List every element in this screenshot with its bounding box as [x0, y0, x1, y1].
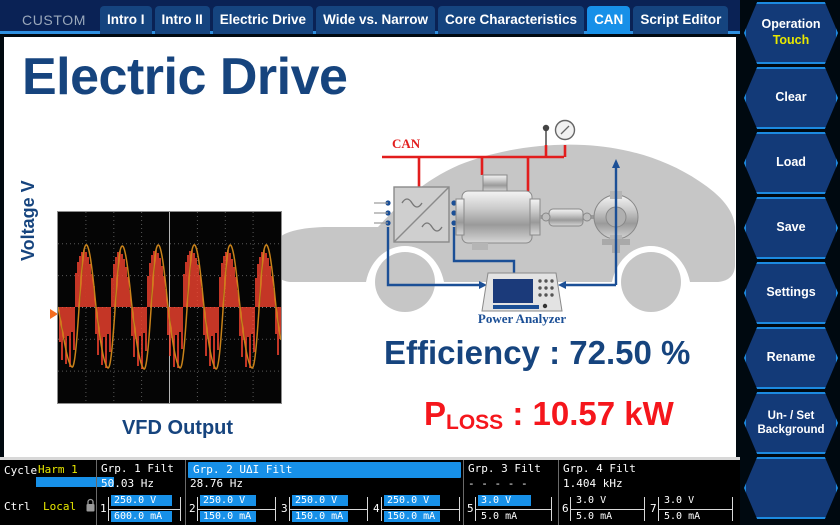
tab-intro-ii[interactable]: Intro II: [155, 6, 210, 34]
channel-7-number: 7: [650, 502, 657, 515]
group-4-header: Grp. 4 Filt: [563, 462, 636, 475]
channel-4[interactable]: 4 250.0 V 150.0 mA: [373, 494, 465, 523]
lock-icon[interactable]: [85, 498, 96, 513]
status-group-1[interactable]: Grp. 1 Filt 50.03 Hz 1 250.0 V 600.0 mA: [96, 460, 185, 525]
group-2-frequency: 28.76 Hz: [190, 477, 243, 490]
channel-5-current: 5.0 mA: [478, 511, 531, 522]
tab-electric-drive[interactable]: Electric Drive: [213, 6, 313, 34]
status-group-3[interactable]: Grp. 3 Filt - - - - - 5 3.0 V 5.0 mA: [463, 460, 558, 525]
tab-script-editor[interactable]: Script Editor: [633, 6, 728, 34]
channel-3-number: 3: [281, 502, 288, 515]
softkey-empty[interactable]: [744, 457, 838, 519]
custom-label: CUSTOM: [0, 13, 100, 34]
motor-endbell-left: [456, 199, 464, 235]
efficiency-value: 72.50 %: [569, 334, 690, 371]
channel-2-current: 150.0 mA: [200, 511, 256, 522]
group-3-frequency: - - - - -: [468, 477, 528, 490]
motor-foot: [472, 243, 488, 250]
channel-7-current: 5.0 mA: [661, 511, 714, 522]
tab-core-characteristics[interactable]: Core Characteristics: [438, 6, 584, 34]
cycle-value[interactable]: Harm 1: [38, 463, 78, 476]
channel-6-current: 5.0 mA: [573, 511, 626, 522]
softkey-set-background-label-1: Un- / Set: [768, 409, 815, 423]
power-analyzer-label: Power Analyzer: [478, 311, 566, 326]
efficiency-readout: Efficiency : 72.50 %: [384, 334, 690, 372]
channel-5-number: 5: [467, 502, 474, 515]
rear-wheel: [375, 252, 435, 312]
inverter-input-terminals: [374, 200, 391, 225]
motor-body: [462, 191, 532, 243]
softkey-clear[interactable]: Clear: [744, 67, 838, 129]
channel-6-number: 6: [562, 502, 569, 515]
power-loss-readout: PLOSS : 10.57 kW: [424, 395, 674, 433]
motor-endbell-right: [530, 199, 540, 235]
softkey-settings[interactable]: Settings: [744, 262, 838, 324]
efficiency-label: Efficiency :: [384, 334, 569, 371]
group-1-frequency: 50.03 Hz: [101, 477, 154, 490]
vfd-scope: Voltage V: [20, 205, 286, 449]
softkey-settings-label: Settings: [766, 285, 815, 301]
group-4-frequency: 1.404 kHz: [563, 477, 623, 490]
channel-3-voltage: 250.0 V: [292, 495, 348, 506]
softkey-operation-label: Operation: [761, 17, 820, 33]
group-3-header: Grp. 3 Filt: [468, 462, 541, 475]
channel-2-number: 2: [189, 502, 196, 515]
tab-intro-i[interactable]: Intro I: [100, 6, 152, 34]
can-label: CAN: [392, 136, 421, 151]
slide-canvas: Electric Drive CAN: [4, 37, 736, 457]
channel-3-current: 150.0 mA: [292, 511, 348, 522]
page-title: Electric Drive: [22, 51, 347, 103]
channel-1-number: 1: [100, 502, 107, 515]
channel-4-voltage: 250.0 V: [384, 495, 440, 506]
ctrl-value[interactable]: Local: [43, 500, 76, 513]
softkey-operation[interactable]: Operation Touch: [744, 2, 838, 64]
status-bar: Cycle Harm 1 Ctrl Local Grp. 1 Filt 50.0…: [0, 460, 740, 525]
channel-4-current: 150.0 mA: [384, 511, 440, 522]
channel-4-number: 4: [373, 502, 380, 515]
channel-3[interactable]: 3 250.0 V 150.0 mA: [281, 494, 373, 523]
channel-5-voltage: 3.0 V: [478, 495, 531, 506]
arrow-to-analyzer-3: [558, 281, 566, 289]
softkey-operation-value: Touch: [773, 33, 810, 49]
car-schematic-svg: CAN: [274, 115, 736, 327]
sensor-head: [543, 125, 549, 131]
softkey-set-background[interactable]: Un- / Set Background: [744, 392, 838, 454]
motor-terminal-box: [483, 175, 507, 191]
ploss-separator: :: [503, 395, 532, 432]
electric-drive-diagram: CAN: [274, 115, 736, 327]
softkey-load[interactable]: Load: [744, 132, 838, 194]
softkey-rename[interactable]: Rename: [744, 327, 838, 389]
tab-wide-vs-narrow[interactable]: Wide vs. Narrow: [316, 6, 435, 34]
channel-1-current: 600.0 mA: [111, 511, 172, 522]
ploss-subscript: LOSS: [446, 411, 503, 434]
softkey-rename-label: Rename: [767, 350, 816, 366]
torque-coupling: [549, 209, 583, 226]
scope-caption: VFD Output: [70, 417, 285, 440]
channel-2-voltage: 250.0 V: [200, 495, 256, 506]
ploss-value: 10.57 kW: [533, 395, 674, 432]
channel-7[interactable]: 7 3.0 V 5.0 mA: [650, 494, 738, 523]
channel-6-voltage: 3.0 V: [573, 495, 626, 506]
cycle-label: Cycle: [4, 464, 37, 477]
status-cycle-column: Cycle Harm 1 Ctrl Local: [0, 460, 96, 525]
softkey-load-label: Load: [776, 155, 806, 171]
softkey-set-background-label-2: Background: [757, 423, 824, 437]
channel-1[interactable]: 1 250.0 V 600.0 mA: [100, 494, 184, 523]
softkey-save[interactable]: Save: [744, 197, 838, 259]
scope-screen[interactable]: [57, 211, 282, 404]
front-wheel: [621, 252, 681, 312]
tab-bar: CUSTOM Intro I Intro II Electric Drive W…: [0, 0, 740, 34]
softkey-clear-label: Clear: [775, 90, 806, 106]
channel-2[interactable]: 2 250.0 V 150.0 mA: [189, 494, 281, 523]
tab-can[interactable]: CAN: [587, 6, 630, 34]
channel-7-voltage: 3.0 V: [661, 495, 714, 506]
channel-1-voltage: 250.0 V: [111, 495, 172, 506]
scope-waveform-svg: [58, 212, 281, 403]
ploss-label: P: [424, 395, 446, 432]
status-group-4[interactable]: Grp. 4 Filt 1.404 kHz 6 3.0 V 5.0 mA 7 3…: [558, 460, 740, 525]
group-1-header: Grp. 1 Filt: [101, 462, 174, 475]
soft-key-sidebar: Operation Touch Clear Load Save Settings…: [742, 0, 840, 525]
status-group-2[interactable]: Grp. 2 UΔI Filt 28.76 Hz 2 250.0 V 150.0…: [185, 460, 463, 525]
softkey-save-label: Save: [776, 220, 805, 236]
channel-6[interactable]: 6 3.0 V 5.0 mA: [562, 494, 650, 523]
scope-y-axis-label: Voltage V: [18, 141, 39, 261]
ctrl-label: Ctrl: [4, 500, 31, 513]
channel-5[interactable]: 5 3.0 V 5.0 mA: [467, 494, 557, 523]
power-analyzer-device: [482, 273, 562, 311]
group-2-header: Grp. 2 UΔI Filt: [188, 462, 461, 478]
